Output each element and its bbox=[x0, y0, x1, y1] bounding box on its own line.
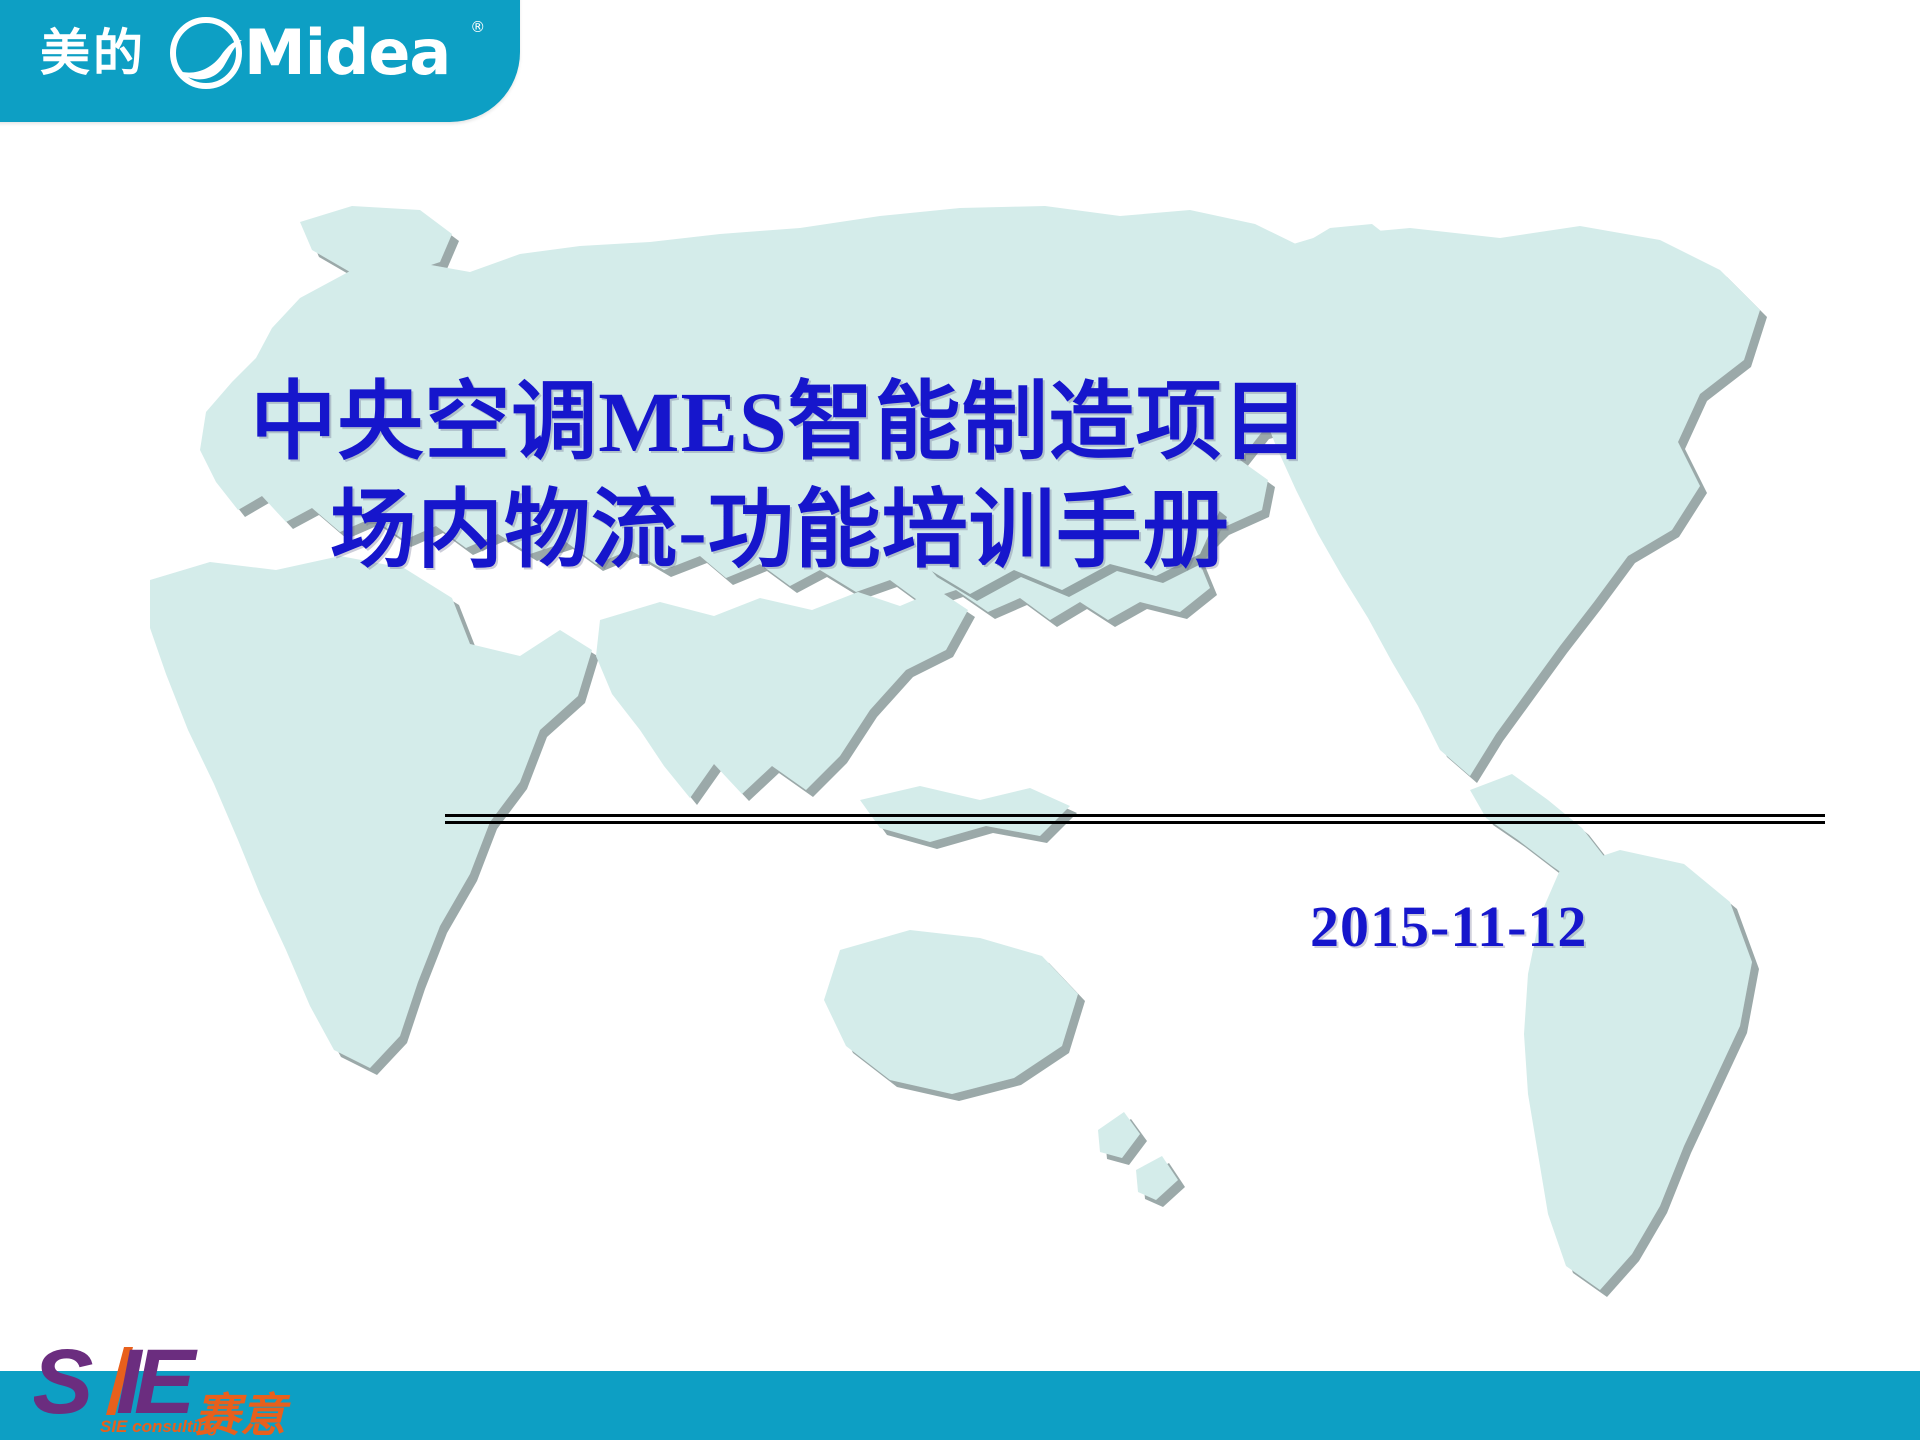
svg-text:S: S bbox=[34, 1335, 93, 1433]
midea-wordmark: Midea bbox=[244, 22, 450, 84]
divider-line-bottom bbox=[445, 821, 1825, 824]
midea-logo: 美的 Midea ® bbox=[40, 16, 485, 90]
title-line-2: 场内物流-功能培训手册 bbox=[0, 476, 1560, 584]
midea-logo-plate: 美的 Midea ® bbox=[0, 0, 520, 122]
sie-chinese-name: 赛意 bbox=[194, 1388, 291, 1440]
sie-logo: S I E SIE consulting 赛意 bbox=[34, 1335, 354, 1440]
title-line-1: 中央空调MES智能制造项目 bbox=[0, 368, 1560, 476]
title-divider bbox=[445, 814, 1825, 824]
midea-chinese-name: 美的 bbox=[40, 28, 146, 78]
divider-line-top bbox=[445, 814, 1825, 817]
midea-ring-icon bbox=[164, 10, 252, 96]
title-slide: 美的 Midea ® 中央空调MES智能制造项目 场内物流-功能培训手册 201… bbox=[0, 0, 1920, 1440]
registered-trademark-icon: ® bbox=[470, 20, 485, 35]
world-map-icon bbox=[0, 150, 1920, 1380]
presentation-date: 2015-11-12 bbox=[1310, 898, 1587, 956]
page-title: 中央空调MES智能制造项目 场内物流-功能培训手册 bbox=[0, 368, 1560, 584]
